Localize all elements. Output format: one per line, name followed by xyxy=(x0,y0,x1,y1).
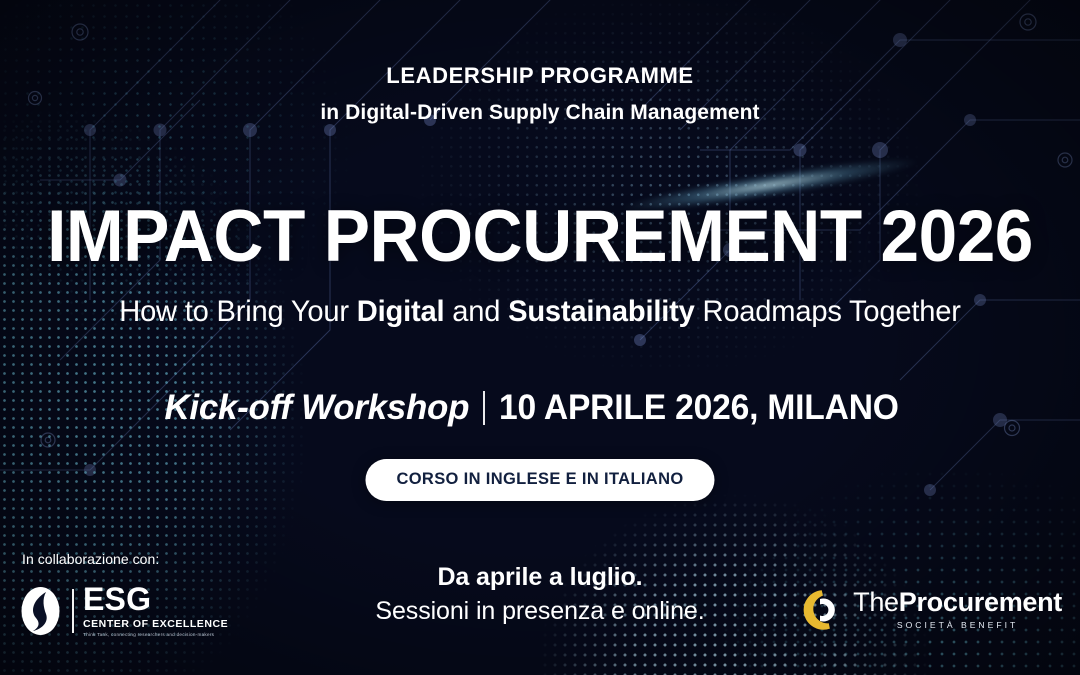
subhead-text-3: Roadmaps Together xyxy=(695,295,961,328)
subhead-text-2: and xyxy=(444,295,508,328)
event-date-location: 10 APRILE 2026, MILANO xyxy=(499,388,899,428)
procurement-wordmark: TheProcurement xyxy=(853,589,1062,616)
kickoff-label: Kick-off Workshop xyxy=(164,388,469,428)
esg-logo-divider xyxy=(72,589,74,633)
procurement-the: The xyxy=(853,587,899,617)
leaf-icon xyxy=(18,585,63,637)
esg-subtitle: CENTER OF EXCELLENCE xyxy=(83,618,228,630)
subhead-emphasis-digital: Digital xyxy=(357,295,445,328)
procurement-logo-text: TheProcurement SOCIETÀ BENEFIT xyxy=(853,589,1062,630)
procurement-name: Procurement xyxy=(899,587,1062,617)
procurement-mark-icon xyxy=(802,590,842,630)
subhead-emphasis-sustainability: Sustainability xyxy=(508,295,694,328)
dateline-divider xyxy=(483,391,485,425)
procurement-legal-status: SOCIETÀ BENEFIT xyxy=(853,620,1062,630)
esg-logo: ESG CENTER OF EXCELLENCE Think Tank, con… xyxy=(18,585,228,637)
esg-wordmark: ESG xyxy=(83,585,228,615)
programme-subtitle: in Digital-Driven Supply Chain Managemen… xyxy=(0,101,1080,125)
language-badge: CORSO IN INGLESE E IN ITALIANO xyxy=(365,459,714,501)
page-title: IMPACT PROCUREMENT 2026 xyxy=(27,200,1053,273)
event-dateline: Kick-off Workshop 10 APRILE 2026, MILANO xyxy=(0,388,1080,428)
the-procurement-logo: TheProcurement SOCIETÀ BENEFIT xyxy=(802,589,1062,630)
hero-subheadline: How to Bring Your Digital and Sustainabi… xyxy=(16,295,1064,329)
subhead-text-1: How to Bring Your xyxy=(119,295,357,328)
esg-logo-text: ESG CENTER OF EXCELLENCE Think Tank, con… xyxy=(83,585,228,637)
programme-eyebrow: LEADERSHIP PROGRAMME xyxy=(0,63,1080,89)
banner-content: LEADERSHIP PROGRAMME in Digital-Driven S… xyxy=(0,0,1080,675)
esg-tagline: Think Tank, connecting researchers and d… xyxy=(83,632,228,637)
collaboration-label: In collaborazione con: xyxy=(22,551,159,567)
event-promo-banner: LEADERSHIP PROGRAMME in Digital-Driven S… xyxy=(0,0,1080,675)
